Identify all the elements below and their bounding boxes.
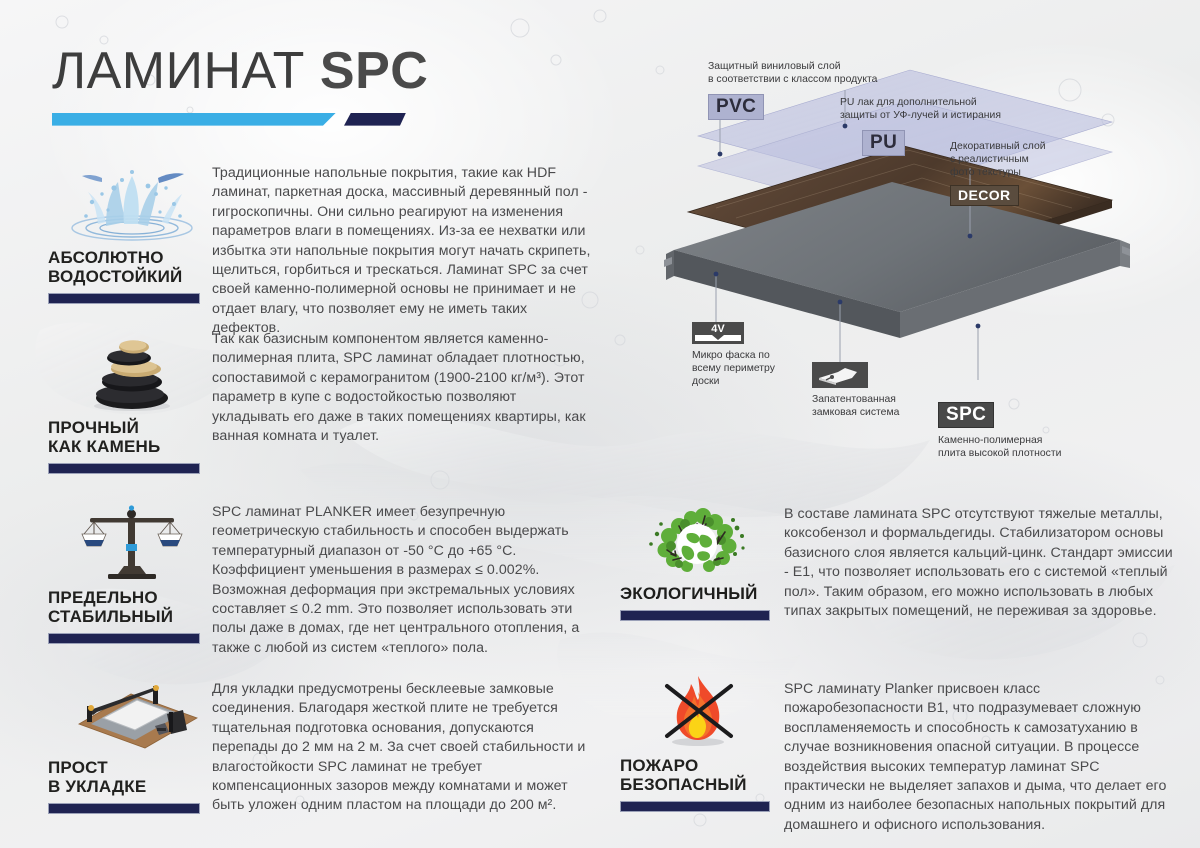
water-splash-icon [48, 158, 216, 242]
feature-fire-safe-label: ПОЖАРО БЕЗОПАСНЫЙ [620, 756, 775, 794]
feature-stable-label: ПРЕДЕЛЬНО СТАБИЛЬНЫЙ [48, 588, 216, 626]
feature-underline-bar [620, 801, 770, 812]
green-globe-trees-icon [620, 500, 775, 578]
feature-underline-bar [48, 293, 200, 304]
balance-scales-icon [48, 498, 216, 582]
feature-ecological-label: ЭКОЛОГИЧНЫЙ [620, 584, 775, 603]
callout-spc-line1: Каменно-полимерная [938, 434, 1108, 447]
callout-pu-line2: защиты от УФ-лучей и истирания [840, 109, 1040, 122]
title-rule-blue [52, 113, 336, 126]
feature-label-line1: ПРЕДЕЛЬНО [48, 588, 216, 607]
feature-label-line1: ПОЖАРО [620, 756, 775, 775]
callout-bevel-line1: Микро фаска по [692, 349, 802, 362]
layer-diagram: Защитный виниловый слой в соответствии с… [660, 50, 1200, 470]
feature-label-line2: В УКЛАДКЕ [48, 777, 216, 796]
badge-pu: PU [862, 130, 905, 156]
badge-pvc: PVC [708, 94, 764, 120]
feature-label-line1: ПРОЧНЫЙ [48, 418, 216, 437]
callout-lock-line1: Запатентованная [812, 393, 942, 406]
infographic-page: ЛАМИНАТ SPC [0, 0, 1200, 848]
callout-decor-line1: Декоративный слой [950, 140, 1090, 153]
feature-underline-bar [48, 633, 200, 644]
callout-pu-line1: PU лак для дополнительной [840, 96, 1040, 109]
badge-decor: DECOR [950, 185, 1019, 206]
page-title-block: ЛАМИНАТ SPC [52, 44, 512, 127]
callout-decor-line3: фото текстуры [950, 166, 1090, 179]
feature-underline-bar [620, 610, 770, 621]
feature-easy-to-install: ПРОСТ В УКЛАДКЕ [48, 668, 216, 814]
paragraph-strong-as-stone: Так как базисным компонентом является ка… [212, 330, 594, 446]
paragraph-waterproof: Традиционные напольные покрытия, такие к… [212, 164, 594, 339]
feature-strong-as-stone: ПРОЧНЫЙ КАК КАМЕНЬ [48, 328, 216, 474]
paragraph-fire-safe: SPC ламинату Planker присвоен класс пожа… [784, 680, 1176, 835]
feature-strong-label: ПРОЧНЫЙ КАК КАМЕНЬ [48, 418, 216, 456]
callout-bevel-line3: доски [692, 375, 802, 388]
page-title: ЛАМИНАТ SPC [52, 44, 512, 99]
feature-waterproof-label: АБСОЛЮТНО ВОДОСТОЙКИЙ [48, 248, 216, 286]
callout-spc-line2: плита высокой плотности [938, 447, 1108, 460]
feature-label-line2: СТАБИЛЬНЫЙ [48, 607, 216, 626]
feature-ecological: ЭКОЛОГИЧНЫЙ [620, 500, 775, 621]
stacked-stones-icon [48, 328, 216, 412]
callout-pvc-line2: в соответствии с классом продукта [708, 73, 918, 86]
lock-system-icon [812, 362, 868, 388]
floor-installation-icon [48, 668, 216, 752]
bevel-icon: 4V [692, 322, 744, 344]
callout-decor: Декоративный слой с реалистичным фото те… [950, 140, 1090, 206]
feature-label-line2: ВОДОСТОЙКИЙ [48, 267, 216, 286]
page-title-main: ЛАМИНАТ [52, 42, 305, 100]
title-underline [52, 113, 452, 127]
feature-waterproof: АБСОЛЮТНО ВОДОСТОЙКИЙ [48, 158, 216, 304]
feature-label-line1: АБСОЛЮТНО [48, 248, 216, 267]
paragraph-easy-to-install: Для укладки предусмотрены бесклеевые зам… [212, 680, 594, 816]
feature-label-line1: ЭКОЛОГИЧНЫЙ [620, 584, 775, 603]
callout-decor-line2: с реалистичным [950, 153, 1090, 166]
feature-label-line1: ПРОСТ [48, 758, 216, 777]
feature-underline-bar [48, 463, 200, 474]
callout-bevel-line2: всему периметру [692, 362, 802, 375]
feature-easy-install-label: ПРОСТ В УКЛАДКЕ [48, 758, 216, 796]
badge-spc: SPC [938, 402, 994, 428]
feature-underline-bar [48, 803, 200, 814]
paragraph-extremely-stable: SPC ламинат PLANKER имеет безупречную ге… [212, 503, 594, 658]
feature-extremely-stable: ПРЕДЕЛЬНО СТАБИЛЬНЫЙ [48, 498, 216, 644]
callout-lock-system: Запатентованная замковая система [812, 362, 942, 419]
callout-lock-line2: замковая система [812, 406, 942, 419]
title-rule-navy [344, 113, 406, 126]
feature-fire-safe: ПОЖАРО БЕЗОПАСНЫЙ [620, 672, 775, 812]
callout-spc-core: SPC Каменно-полимерная плита высокой пло… [938, 402, 1108, 460]
callout-pvc-line1: Защитный виниловый слой [708, 60, 918, 73]
feature-label-line2: БЕЗОПАСНЫЙ [620, 775, 775, 794]
page-title-bold: SPC [320, 42, 428, 100]
no-fire-icon [620, 672, 775, 750]
paragraph-ecological: В составе ламината SPC отсутствуют тяжел… [784, 505, 1176, 621]
feature-label-line2: КАК КАМЕНЬ [48, 437, 216, 456]
callout-bevel: 4V Микро фаска по всему периметру доски [692, 322, 802, 388]
